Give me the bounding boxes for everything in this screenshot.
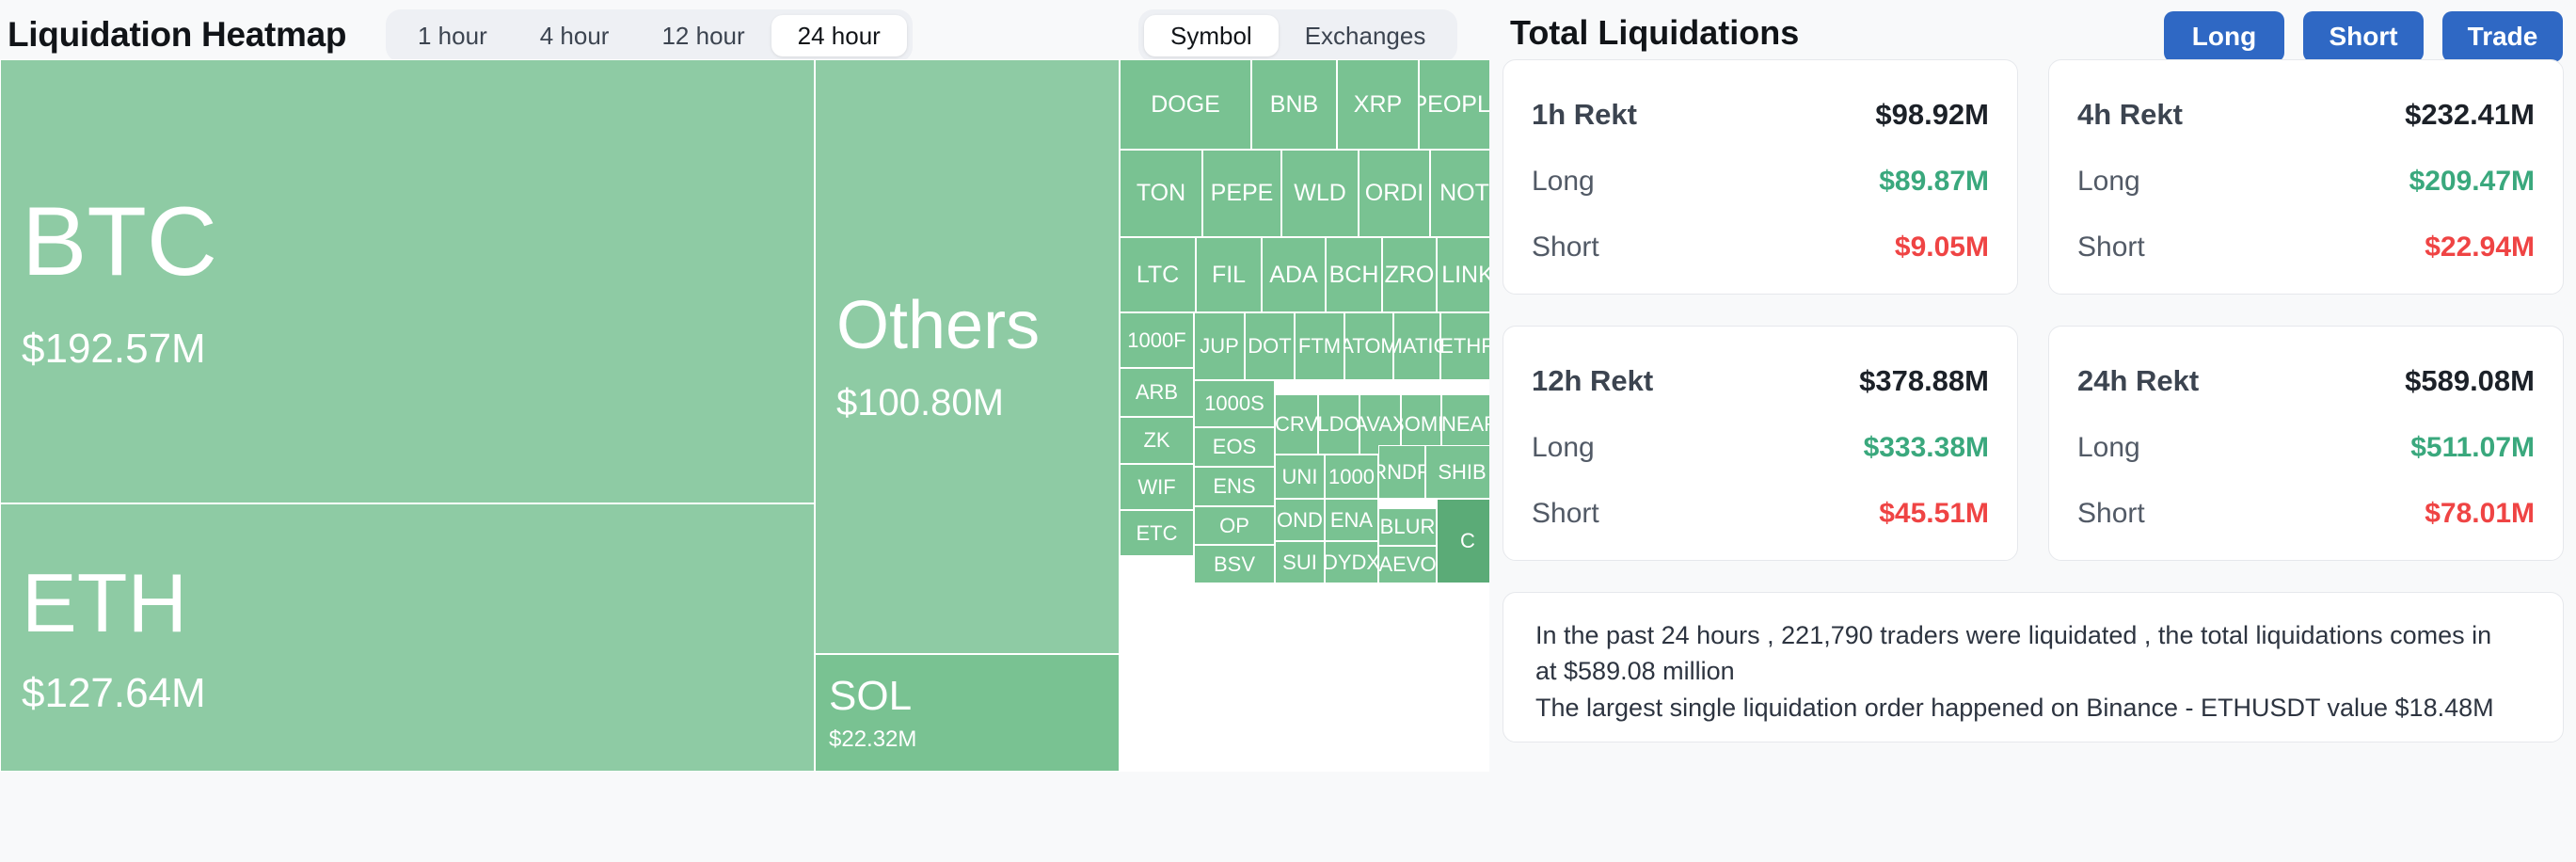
treemap-tile-symbol: ETHFI (1440, 336, 1489, 357)
treemap-tile-arb[interactable]: ARB (1120, 368, 1194, 417)
treemap-tile-fil[interactable]: FIL (1196, 237, 1262, 312)
treemap-tile-people[interactable]: PEOPLE (1419, 59, 1489, 150)
treemap-tile-doge[interactable]: DOGE (1120, 59, 1251, 150)
treemap-tile-ena[interactable]: ENA (1325, 499, 1378, 541)
stat-card-title: 24h Rekt (2077, 364, 2199, 398)
treemap-tile-symbol: BNB (1270, 93, 1318, 117)
treemap-tile-eth[interactable]: ETH $127.64M (0, 503, 815, 772)
stat-row-long: Long $89.87M (1532, 166, 1989, 198)
stat-short-value: $9.05M (1895, 231, 1989, 263)
stat-long-label: Long (2077, 166, 2140, 198)
treemap-tile-wif[interactable]: WIF (1120, 464, 1194, 510)
treemap-tile-symbol: BLUR (1380, 517, 1436, 537)
treemap-tile-symbol: ETC (1137, 523, 1178, 544)
treemap-tile-pepe[interactable]: PEPE (1202, 150, 1281, 237)
treemap-tile-op[interactable]: OP (1194, 506, 1275, 545)
treemap-tile-crv[interactable]: CRV (1275, 394, 1318, 455)
timeframe-tab-group: 1 hour 4 hour 12 hour 24 hour (386, 9, 913, 62)
treemap-tile-rndr[interactable]: RNDR (1378, 445, 1425, 499)
treemap-tile-symbol: 1000 (1328, 467, 1375, 487)
treemap-tile-symbol: ENS (1213, 476, 1255, 497)
treemap-tile-symbol: ATOM (1344, 336, 1393, 357)
stat-row-short: Short $78.01M (2077, 498, 2535, 530)
treemap-tile-symbol: JUP (1200, 336, 1239, 357)
long-button[interactable]: Long (2164, 11, 2284, 62)
treemap-tile-symbol: MATIC (1393, 336, 1440, 357)
treemap-tile-ordi[interactable]: ORDI (1359, 150, 1430, 237)
stat-short-label: Short (1532, 231, 1599, 263)
total-liquidations-panel: 1h Rekt $98.92M Long $89.87M Short $9.05… (1503, 59, 2566, 854)
summary-line-1: In the past 24 hours , 221,790 traders w… (1535, 617, 2531, 653)
treemap-tile-symbol: PEPE (1211, 182, 1274, 205)
treemap-tile-symbol: FTM (1298, 336, 1341, 357)
stat-row-short: Short $45.51M (1532, 498, 1989, 530)
treemap-tile-symbol: DOGE (1151, 93, 1220, 117)
treemap-tile-symbol: EOS (1213, 437, 1256, 457)
stat-long-value: $511.07M (2410, 432, 2535, 464)
stat-card-4h[interactable]: 4h Rekt $232.41M Long $209.47M Short $22… (2048, 59, 2564, 295)
stat-row-total: 12h Rekt $378.88M (1532, 364, 1989, 398)
treemap-tile-symbol: AEVO (1378, 554, 1436, 575)
treemap-tile-ton[interactable]: TON (1120, 150, 1202, 237)
stat-short-label: Short (2077, 498, 2145, 530)
stat-row-long: Long $333.38M (1532, 432, 1989, 464)
treemap-tile-symbol: XRP (1354, 93, 1402, 117)
treemap-tile-sui[interactable]: SUI (1275, 541, 1325, 583)
treemap-tile-bsv[interactable]: BSV (1194, 545, 1275, 583)
summary-line-2: at $589.08 million (1535, 653, 2531, 689)
treemap-tile-symbol: C (1460, 531, 1475, 551)
treemap-tile-blur[interactable]: BLUR (1378, 508, 1437, 546)
treemap-tile-symbol: BOME (1401, 414, 1441, 435)
treemap-tile-symbol: OND (1277, 510, 1323, 531)
stat-row-total: 4h Rekt $232.41M (2077, 98, 2535, 132)
treemap-tile-symbol: WIF (1137, 477, 1175, 498)
stat-long-label: Long (1532, 166, 1595, 198)
treemap-tile-symbol: TON (1137, 182, 1185, 205)
stat-row-total: 24h Rekt $589.08M (2077, 364, 2535, 398)
stat-card-total: $589.08M (2405, 364, 2535, 398)
treemap-tile-symbol: ZK (1143, 430, 1169, 451)
treemap-tile-matic[interactable]: MATIC (1393, 312, 1440, 380)
treemap-tile-zro[interactable]: ZRO (1382, 237, 1437, 312)
treemap-tile-symbol: SHIB (1438, 462, 1486, 483)
mode-tab-group: Symbol Exchanges (1138, 9, 1457, 62)
stat-row-long: Long $209.47M (2077, 166, 2535, 198)
stat-short-value: $45.51M (1879, 498, 1989, 530)
treemap-tile-bnb[interactable]: BNB (1251, 59, 1337, 150)
summary-line-3: The largest single liquidation order hap… (1535, 690, 2531, 726)
treemap-tile-symbol: BTC (1, 193, 814, 291)
treemap-tile-ldo[interactable]: LDO (1318, 394, 1360, 455)
treemap-tile-btc[interactable]: BTC $192.57M (0, 59, 815, 503)
treemap-tile-1000s[interactable]: 1000S (1194, 380, 1275, 427)
stat-long-value: $333.38M (1864, 432, 1989, 464)
short-button[interactable]: Short (2303, 11, 2424, 62)
treemap-tile-symbol: BSV (1214, 554, 1255, 575)
treemap-tile-ond[interactable]: OND (1275, 499, 1325, 541)
tab-timeframe-4h[interactable]: 4 hour (514, 15, 636, 56)
treemap-tile-symbol: OP (1219, 516, 1249, 536)
treemap-tile-symbol: ADA (1269, 263, 1317, 287)
treemap-tile-symbol: WLD (1294, 182, 1346, 205)
tab-timeframe-12h[interactable]: 12 hour (635, 15, 771, 56)
stat-short-value: $22.94M (2425, 231, 2535, 263)
treemap-tile-c[interactable]: C (1437, 499, 1489, 583)
treemap-tile-symbol: FIL (1212, 263, 1246, 287)
treemap-tile-value: $127.64M (1, 673, 814, 714)
stat-card-title: 4h Rekt (2077, 98, 2183, 132)
stat-long-label: Long (1532, 432, 1595, 464)
treemap-tile-zk[interactable]: ZK (1120, 417, 1194, 464)
stat-long-value: $209.47M (2409, 166, 2535, 198)
tab-exchanges[interactable]: Exchanges (1279, 15, 1453, 56)
stat-card-total: $378.88M (1859, 364, 1989, 398)
treemap-tile-dot[interactable]: DOT (1245, 312, 1295, 380)
treemap-tile-ada[interactable]: ADA (1262, 237, 1326, 312)
stat-row-long: Long $511.07M (2077, 432, 2535, 464)
treemap-tile-symbol: PEOPLE (1419, 93, 1489, 117)
treemap-tile-xrp[interactable]: XRP (1337, 59, 1419, 150)
treemap-tile-1000[interactable]: 1000 (1325, 455, 1378, 499)
tab-timeframe-1h[interactable]: 1 hour (391, 15, 514, 56)
treemap-tile-symbol: LTC (1137, 263, 1179, 287)
stat-card-total: $98.92M (1875, 98, 1989, 132)
action-button-group: Long Short Trade (2164, 11, 2563, 62)
treemap-tile-symbol: NOT (1439, 182, 1489, 205)
page-title: Liquidation Heatmap (8, 15, 346, 55)
stat-card-total: $232.41M (2405, 98, 2535, 132)
tab-timeframe-24h[interactable]: 24 hour (771, 15, 907, 56)
treemap-tile-symbol: AVAX (1360, 414, 1401, 435)
stat-row-short: Short $22.94M (2077, 231, 2535, 263)
treemap-tile-eos[interactable]: EOS (1194, 427, 1275, 467)
stat-row-short: Short $9.05M (1532, 231, 1989, 263)
treemap-tile-value: $22.32M (829, 728, 1119, 751)
stat-short-value: $78.01M (2425, 498, 2535, 530)
stat-short-label: Short (1532, 498, 1599, 530)
treemap-tile-symbol: 1000F (1127, 330, 1185, 351)
treemap-tile-wld[interactable]: WLD (1281, 150, 1359, 237)
treemap-tile-symbol: Others (816, 292, 1119, 359)
stat-card-1h[interactable]: 1h Rekt $98.92M Long $89.87M Short $9.05… (1503, 59, 2018, 295)
stat-row-total: 1h Rekt $98.92M (1532, 98, 1989, 132)
liquidation-treemap: BTC $192.57M ETH $127.64M Others $100.80… (0, 59, 1489, 772)
treemap-tile-aevo[interactable]: AEVO (1378, 546, 1437, 583)
treemap-tile-symbol: SUI (1282, 552, 1317, 573)
trade-button[interactable]: Trade (2442, 11, 2563, 62)
treemap-tile-symbol: BCH (1329, 263, 1379, 287)
treemap-tile-ltc[interactable]: LTC (1120, 237, 1196, 312)
treemap-tile-value: $192.57M (1, 328, 814, 370)
treemap-tile-sol[interactable]: SOL $22.32M (815, 654, 1120, 772)
treemap-tile-ftm[interactable]: FTM (1295, 312, 1344, 380)
treemap-tile-symbol: DOT (1248, 336, 1291, 357)
stat-card-title: 1h Rekt (1532, 98, 1637, 132)
stat-card-24h[interactable]: 24h Rekt $589.08M Long $511.07M Short $7… (2048, 326, 2564, 561)
stat-card-12h[interactable]: 12h Rekt $378.88M Long $333.38M Short $4… (1503, 326, 2018, 561)
treemap-tile-symbol: RNDR (1378, 462, 1425, 483)
stat-long-label: Long (2077, 432, 2140, 464)
tab-symbol[interactable]: Symbol (1144, 15, 1279, 56)
treemap-tile-symbol: UNI (1282, 467, 1318, 487)
treemap-tile-uni[interactable]: UNI (1275, 455, 1325, 499)
treemap-tile-jup[interactable]: JUP (1194, 312, 1245, 380)
treemap-tile-symbol: DYDX (1325, 552, 1378, 573)
treemap-tile-symbol: ARB (1136, 382, 1178, 403)
treemap-tile-symbol: CRV (1275, 414, 1318, 435)
liquidation-heatmap-app: Liquidation Heatmap 1 hour 4 hour 12 hou… (0, 0, 2576, 862)
treemap-tile-etc[interactable]: ETC (1120, 510, 1194, 556)
treemap-tile-value: $100.80M (816, 384, 1119, 422)
treemap-tile-not[interactable]: NOT (1430, 150, 1489, 237)
treemap-tile-link[interactable]: LINK (1437, 237, 1489, 312)
treemap-tile-symbol: ETH (1, 562, 814, 645)
summary-card: In the past 24 hours , 221,790 traders w… (1503, 592, 2564, 742)
treemap-tile-dydx[interactable]: DYDX (1325, 541, 1378, 583)
treemap-tile-bch[interactable]: BCH (1326, 237, 1382, 312)
treemap-tile-symbol: 1000S (1204, 393, 1264, 414)
treemap-tile-shib[interactable]: SHIB (1425, 445, 1489, 499)
treemap-tile-symbol: LINK (1441, 263, 1489, 287)
treemap-tile-ethfi[interactable]: ETHFI (1440, 312, 1489, 380)
stat-long-value: $89.87M (1879, 166, 1989, 198)
total-liquidations-title: Total Liquidations (1510, 13, 1799, 53)
treemap-tile-others[interactable]: Others $100.80M (815, 59, 1120, 654)
treemap-tile-1000f[interactable]: 1000F (1120, 312, 1194, 368)
treemap-tile-symbol: LDO (1318, 414, 1360, 435)
treemap-tile-symbol: ZRO (1385, 263, 1435, 287)
treemap-tile-symbol: ENA (1330, 510, 1373, 531)
treemap-tile-symbol: ORDI (1365, 182, 1424, 205)
treemap-tile-symbol: NEAR (1441, 414, 1489, 435)
stat-short-label: Short (2077, 231, 2145, 263)
treemap-tile-atom[interactable]: ATOM (1344, 312, 1393, 380)
treemap-tile-symbol: SOL (829, 676, 1119, 717)
stat-card-title: 12h Rekt (1532, 364, 1653, 398)
treemap-tile-ens[interactable]: ENS (1194, 467, 1275, 506)
